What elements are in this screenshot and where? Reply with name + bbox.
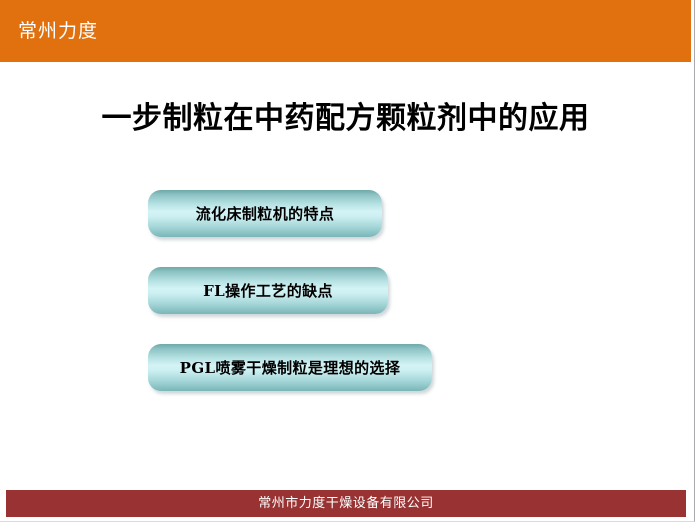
page-title: 一步制粒在中药配方颗粒剂中的应用: [0, 99, 691, 139]
agenda-item-3[interactable]: PGL喷雾干燥制粒是理想的选择: [148, 344, 432, 391]
presentation-slide: 常州力度 一步制粒在中药配方颗粒剂中的应用 流化床制粒机的特点 FL操作工艺的缺…: [0, 0, 695, 522]
footer-band: 常州市力度干燥设备有限公司: [6, 490, 686, 517]
agenda-item-1[interactable]: 流化床制粒机的特点: [148, 190, 382, 237]
agenda-button-list: 流化床制粒机的特点 FL操作工艺的缺点 PGL喷雾干燥制粒是理想的选择: [148, 190, 432, 391]
agenda-item-3-label: PGL喷雾干燥制粒是理想的选择: [180, 359, 401, 377]
footer-company-name: 常州市力度干燥设备有限公司: [258, 495, 434, 512]
agenda-item-2[interactable]: FL操作工艺的缺点: [148, 267, 388, 314]
agenda-item-1-label: 流化床制粒机的特点: [196, 205, 335, 223]
brand-title: 常州力度: [18, 18, 98, 44]
header-band: 常州力度: [0, 0, 691, 62]
agenda-item-2-label: FL操作工艺的缺点: [203, 282, 333, 300]
